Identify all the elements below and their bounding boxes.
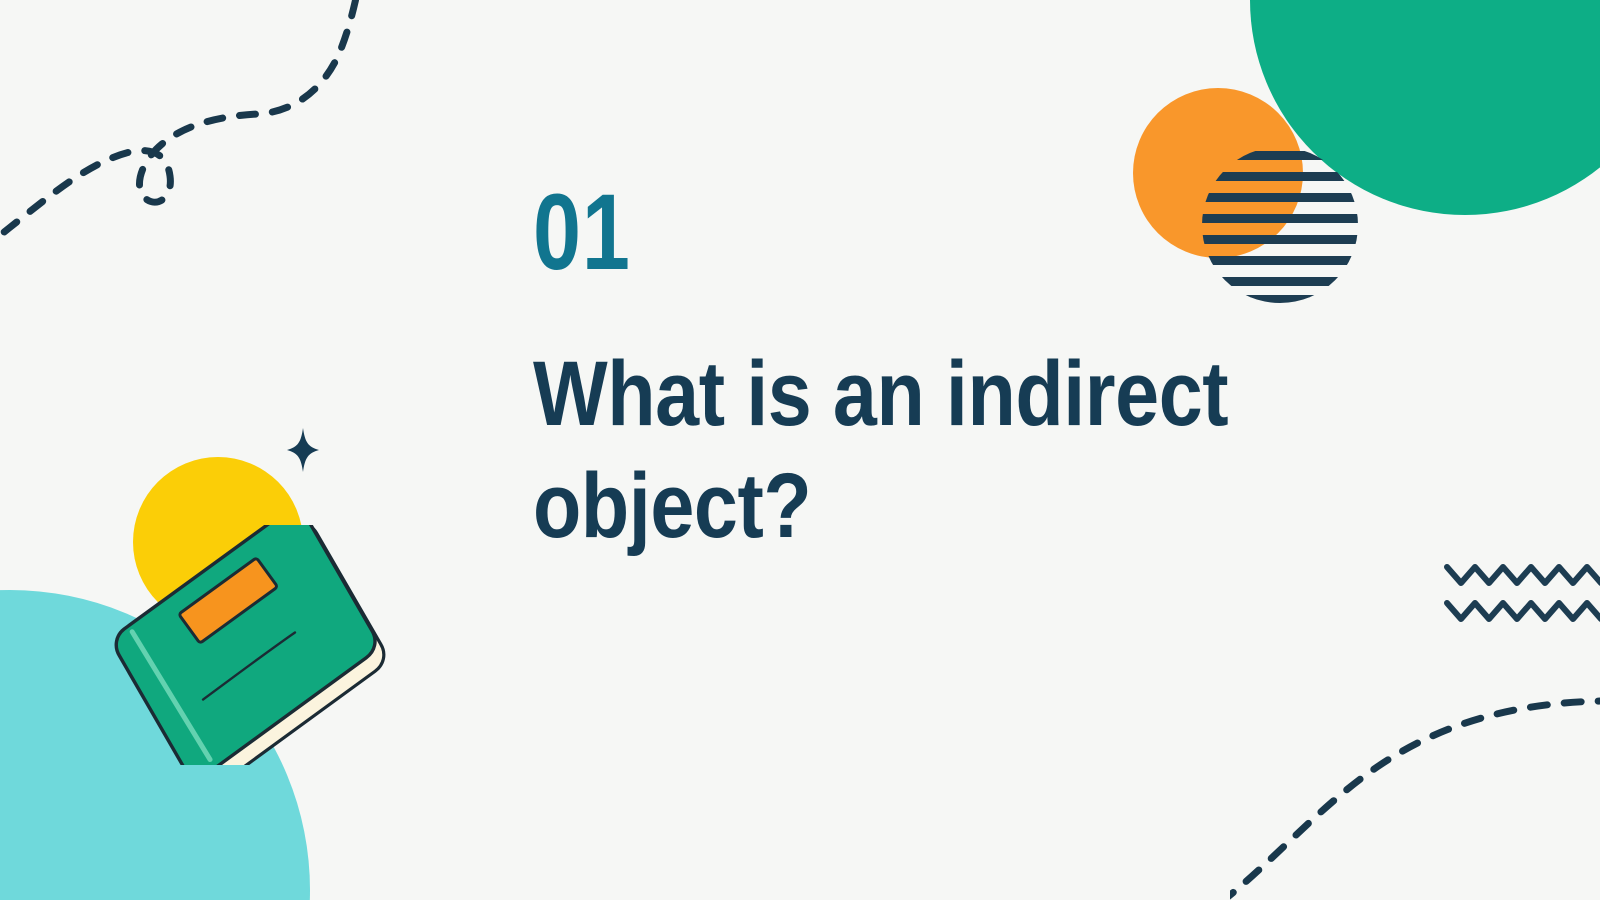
slide-number: 01 [533,178,1213,286]
page-title: What is an indirect object? [533,338,1376,562]
zigzag-lines-icon [1443,555,1600,630]
cyan-circle-shape [0,590,310,900]
book-illustration-icon [106,525,396,770]
four-point-star-icon [286,428,320,477]
yellow-circle-shape [133,457,303,627]
dashed-looping-path-icon [0,0,390,259]
dashed-arc-path-icon [1230,655,1600,900]
slide-content: 01 What is an indirect object? [533,178,1383,562]
slide: 01 What is an indirect object? [0,0,1600,900]
